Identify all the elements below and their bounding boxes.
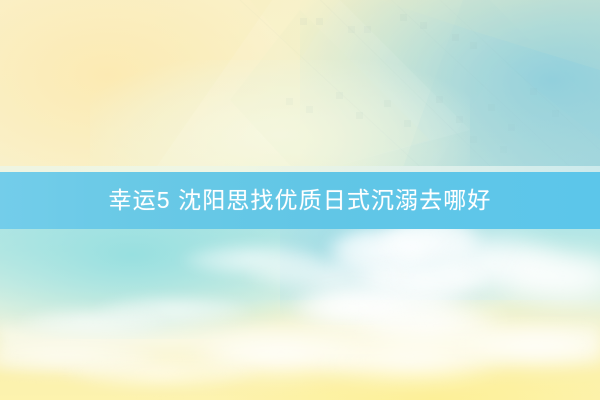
page-title: 幸运5 沈阳思找优质日式沉溺去哪好 <box>109 189 492 212</box>
horizon-haze <box>0 317 600 363</box>
title-banner: 幸运5 沈阳思找优质日式沉溺去哪好 <box>0 172 600 229</box>
background-top-gradient <box>0 0 600 176</box>
background-bottom-sky <box>0 229 600 400</box>
screenshot-canvas: 幸运5 沈阳思找优质日式沉溺去哪好 <box>0 0 600 400</box>
diagonal-facet-pattern <box>0 0 600 176</box>
